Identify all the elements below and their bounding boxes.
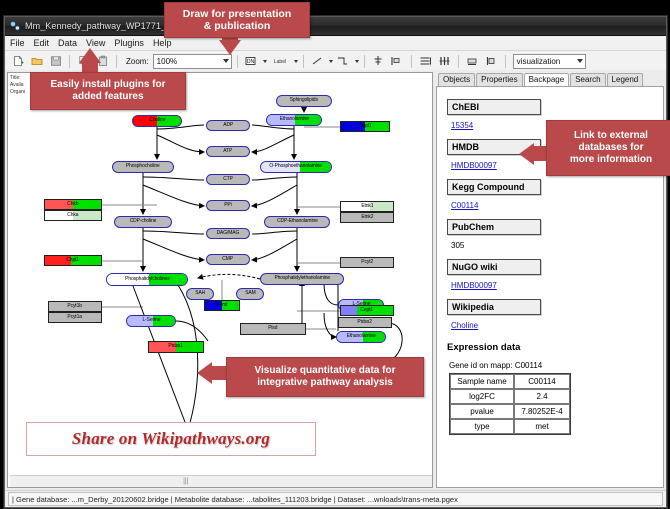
gene-node-pisd[interactable]: Pisd — [240, 323, 306, 335]
gene-node-chpt1[interactable]: Chpt1 — [44, 255, 102, 266]
tab-properties[interactable]: Properties — [476, 73, 522, 86]
link-callout-text: Link to externaldatabases formore inform… — [570, 130, 652, 166]
share-callout: Share on Wikipathways.org — [26, 422, 316, 456]
chevron-down-icon[interactable] — [263, 60, 267, 63]
zoom-value: 100% — [157, 57, 177, 66]
db-header-nugo-wiki: NuGO wiki — [447, 259, 541, 275]
label-icon[interactable]: Label — [269, 53, 291, 70]
visualize-callout-text: Visualize quantitative data forintegrati… — [255, 365, 396, 389]
menu-item-data[interactable]: Data — [58, 38, 77, 48]
share-callout-text: Share on Wikipathways.org — [72, 429, 270, 449]
node-label: Chpt1 — [67, 258, 80, 263]
expression-value: met — [514, 419, 570, 434]
node-label: Ptdss2 — [358, 320, 373, 325]
table-row: pvalue7.80252E-4 — [450, 404, 570, 419]
node-label: Chkb — [67, 202, 78, 207]
db-header-wikipedia: Wikipedia — [447, 299, 541, 315]
db-header-kegg-compound: Kegg Compound — [447, 179, 541, 195]
connector-icon[interactable] — [335, 53, 352, 70]
canvas-hscrollbar[interactable]: ||| — [10, 475, 432, 487]
menu-item-help[interactable]: Help — [153, 38, 172, 48]
gene-node-sgpl1[interactable]: Sgpl1 — [340, 121, 390, 132]
draw-callout-arrow — [219, 40, 241, 55]
metabolite-node-ctp[interactable]: CTP — [206, 174, 250, 185]
toolbar-divider — [364, 55, 365, 68]
visualize-callout-arrow — [197, 362, 212, 384]
plugins-callout-arrow — [79, 48, 101, 63]
expression-key: log2FC — [450, 389, 514, 404]
menu-bar[interactable]: File Edit Data View Plugins Help — [5, 36, 666, 51]
menu-item-edit[interactable]: Edit — [34, 38, 50, 48]
node-label: Sphingolipids — [290, 98, 318, 103]
menu-item-view[interactable]: View — [86, 38, 105, 48]
node-label: ATP — [224, 149, 233, 154]
status-bar: | Gene database: ...m_Derby_20120602.bri… — [5, 490, 666, 507]
scroll-thumb[interactable]: ||| — [179, 478, 193, 485]
metabolite-node-atp[interactable]: ATP — [206, 146, 250, 157]
metabolite-node-phosphocholine[interactable]: Phosphocholine — [112, 161, 174, 173]
db-link-hmdb[interactable]: HMDB00097 — [451, 161, 497, 170]
metabolite-node-cdp-choline[interactable]: CDP-choline — [114, 216, 172, 228]
table-row: typemet — [450, 419, 570, 434]
line-icon[interactable] — [309, 53, 326, 70]
toolbar-divider — [237, 55, 238, 68]
gene-node-chka[interactable]: Chka — [44, 210, 102, 221]
svg-text:DN: DN — [246, 59, 254, 65]
app-icon — [9, 20, 21, 32]
db-link-kegg-compound[interactable]: C00114 — [451, 201, 478, 210]
save-icon[interactable] — [47, 53, 64, 70]
expression-data-heading: Expression data — [447, 342, 663, 353]
plugins-callout: Easily install plugins foradded features — [30, 72, 186, 110]
node-label: Pemt — [216, 303, 227, 308]
order-icon[interactable] — [483, 53, 500, 70]
node-label: L-Serine — [142, 318, 160, 323]
gene-node-etnk2[interactable]: Etnk2 — [340, 212, 394, 223]
node-label: Cept1 — [361, 308, 374, 313]
align-left-icon[interactable] — [389, 53, 406, 70]
metabolite-node-cmp[interactable]: CMP — [206, 254, 250, 265]
node-label: Sgpl1 — [359, 124, 371, 129]
metabolite-node-adp[interactable]: ADP — [206, 120, 250, 131]
node-label: Phosphatidylethanolamine — [274, 276, 330, 281]
metabolite-node-ppi[interactable]: PPi — [206, 200, 250, 211]
draw-callout: Draw for presentation& publication — [164, 2, 310, 38]
node-label: Ethanolamine — [279, 117, 308, 122]
gene-node-pcyt1b[interactable]: Pcyt1b — [48, 301, 102, 312]
draw-callout-text: Draw for presentation& publication — [183, 8, 292, 32]
visualization-combo[interactable]: visualization — [513, 54, 586, 69]
gene-node-pemt[interactable]: Pemt — [204, 300, 240, 311]
gene-node-ptdss1[interactable]: Ptdss1 — [148, 341, 204, 353]
expression-key: Sample name — [450, 374, 514, 389]
chevron-down-icon — [577, 59, 583, 63]
toolbar[interactable]: Zoom: 100% DN Label — [5, 51, 666, 72]
db-value-pubchem: 305 — [451, 241, 464, 250]
node-label: Pcyt1a — [68, 315, 83, 320]
gene-node-pcyt2[interactable]: Pcyt2 — [340, 257, 394, 268]
menu-item-plugins[interactable]: Plugins — [114, 38, 144, 48]
metabolite-node-phosphatidylcholines[interactable]: Phosphatidylcholines — [106, 273, 188, 286]
toolbar-divider — [411, 55, 412, 68]
db-header-chebi: ChEBI — [447, 99, 541, 115]
expression-value: C00114 — [514, 374, 570, 389]
table-row: Sample nameC00114 — [450, 374, 570, 389]
toolbar-divider — [303, 55, 304, 68]
gene-node-pcyt1a[interactable]: Pcyt1a — [48, 312, 102, 323]
plugins-callout-text: Easily install plugins foradded features — [50, 79, 165, 103]
node-label: Etnk2 — [361, 215, 373, 220]
expression-value: 2.4 — [514, 389, 570, 404]
metabolite-node-cdp-ethanolamine[interactable]: CDP-Ethanolamine — [264, 216, 330, 228]
toolbar-divider — [505, 55, 506, 68]
tab-legend[interactable]: Legend — [607, 73, 644, 86]
metabolite-node-sam[interactable]: SAM — [236, 288, 264, 300]
chevron-down-icon[interactable] — [355, 60, 359, 63]
tab-search[interactable]: Search — [570, 73, 605, 86]
visualize-callout: Visualize quantitative data forintegrati… — [226, 357, 424, 397]
screenshot-root: Mm_Kennedy_pathway_WP1771_45176.gpml Fil… — [0, 0, 670, 509]
stack-icon[interactable] — [417, 53, 434, 70]
metabolite-node-o-phosphoethanolamine[interactable]: O-Phosphoethanolamine — [260, 161, 332, 173]
node-label: CDP-choline — [130, 219, 157, 224]
node-label: Ethanolamine — [346, 334, 375, 339]
align-center-icon[interactable] — [370, 53, 387, 70]
expression-key: pvalue — [450, 404, 514, 419]
expression-value: 7.80252E-4 — [514, 404, 570, 419]
gene-node-chkb[interactable]: Chkb — [44, 199, 102, 210]
metabolite-node-ethanolamine[interactable]: Ethanolamine — [266, 114, 322, 126]
gene-id-text: Gene id on mapp: C00114 — [449, 361, 663, 370]
chevron-down-icon — [223, 59, 229, 63]
db-link-chebi[interactable]: 15354 — [451, 121, 473, 130]
visualization-value: visualization — [517, 57, 561, 66]
metabolite-node-ethanolamine[interactable]: Ethanolamine — [336, 331, 386, 343]
node-label: ADP — [223, 123, 233, 128]
expression-table: Sample nameC00114log2FC2.4pvalue7.80252E… — [449, 373, 571, 435]
node-label: CTP — [223, 177, 233, 182]
new-file-icon[interactable] — [9, 53, 26, 70]
metabolite-node-sah[interactable]: SAH — [186, 288, 214, 300]
db-link-nugo-wiki[interactable]: HMDB00097 — [451, 281, 497, 290]
gene-node-etnk1[interactable]: Etnk1 — [340, 201, 394, 212]
node-label: Chka — [67, 213, 78, 218]
metabolite-node-choline[interactable]: Choline — [132, 115, 182, 127]
metabolite-node-l-serine[interactable]: L-Serine — [126, 315, 176, 327]
status-bar-inner: | Gene database: ...m_Derby_20120602.bri… — [8, 492, 663, 506]
toolbar-divider — [116, 55, 117, 68]
node-label: Choline — [149, 118, 165, 123]
status-text: | Gene database: ...m_Derby_20120602.bri… — [12, 495, 458, 504]
table-row: log2FC2.4 — [450, 389, 570, 404]
node-label: Pcyt1b — [68, 304, 83, 309]
link-callout: Link to externaldatabases formore inform… — [546, 120, 670, 176]
node-label: Phosphocholine — [126, 164, 160, 169]
metabolite-node-phosphatidylethanolamine[interactable]: Phosphatidylethanolamine — [260, 273, 344, 285]
node-label: PPi — [224, 203, 231, 208]
toolbar-divider — [69, 55, 70, 68]
svg-text:Label: Label — [274, 59, 286, 65]
node-label: Etnk1 — [361, 204, 373, 209]
node-label: Pisd — [268, 326, 277, 331]
distribute-icon[interactable] — [436, 53, 453, 70]
node-label: DAG/MAG — [217, 231, 240, 236]
node-label: Pcyt2 — [361, 260, 373, 265]
db-link-wikipedia[interactable]: Choline — [451, 321, 478, 330]
side-panel-tabs[interactable]: ObjectsPropertiesBackpageSearchLegend — [436, 72, 664, 86]
group-icon[interactable] — [464, 53, 481, 70]
open-folder-icon[interactable] — [28, 53, 45, 70]
metabolite-node-dag-mag[interactable]: DAG/MAG — [206, 228, 250, 239]
tab-backpage[interactable]: Backpage — [524, 73, 570, 87]
expression-key: type — [450, 419, 514, 434]
node-label: SAM — [245, 291, 255, 296]
node-label: Phosphatidylcholines — [125, 277, 169, 282]
db-header-pubchem: PubChem — [447, 219, 541, 235]
node-label: Ptdss1 — [169, 344, 184, 349]
node-label: O-Phosphoethanolamine — [270, 164, 323, 169]
node-label: CDP-Ethanolamine — [277, 219, 318, 224]
metabolite-node-sphingolipids[interactable]: Sphingolipids — [276, 95, 332, 107]
gene-node-ptdss2[interactable]: Ptdss2 — [338, 317, 392, 328]
menu-item-file[interactable]: File — [10, 38, 25, 48]
tab-objects[interactable]: Objects — [438, 73, 475, 86]
link-callout-arrow — [519, 143, 534, 165]
gene-node-cept1[interactable]: Cept1 — [340, 305, 394, 316]
chevron-down-icon[interactable] — [294, 60, 298, 63]
node-label: CMP — [223, 257, 234, 262]
toolbar-divider — [458, 55, 459, 68]
zoom-combo[interactable]: 100% — [153, 54, 232, 69]
title-bar[interactable]: Mm_Kennedy_pathway_WP1771_45176.gpml — [5, 17, 666, 36]
chevron-down-icon[interactable] — [329, 60, 333, 63]
datanode-icon[interactable]: DN — [243, 53, 260, 70]
zoom-label: Zoom: — [126, 57, 149, 66]
node-label: SAH — [195, 291, 205, 296]
